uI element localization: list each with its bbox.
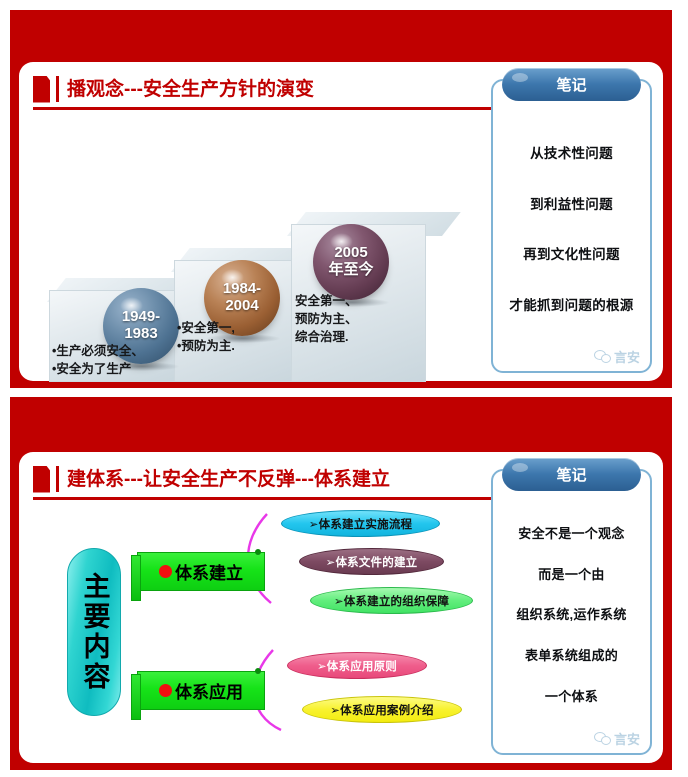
step-2-text: •安全第一, •预防为主. <box>177 319 235 355</box>
title-divider-bar <box>56 76 59 102</box>
step-3-text: 安全第一、 预防为主、 综合治理. <box>295 292 358 346</box>
slide-2-notes-body: 安全不是一个观念 而是一个由 组织系统,运作系统 表单系统组成的 一个体系 <box>499 501 644 727</box>
slide-1-card: 播观念---安全生产方针的演变 1949- 1983 19 <box>19 62 663 381</box>
notes-line: 安全不是一个观念 <box>518 523 624 542</box>
bullet-dot-icon <box>159 565 172 578</box>
page-title: 播观念---安全生产方针的演变 <box>65 80 314 99</box>
notes-line: 一个体系 <box>545 686 598 705</box>
step-3-text-line-3: 综合治理. <box>295 328 358 346</box>
notes-line: 才能抓到问题的根源 <box>509 294 633 314</box>
mindmap-branch-1-banner: 体系建立 <box>137 552 265 591</box>
bookmark-flag-icon <box>33 76 50 103</box>
bullet-dot-icon <box>159 684 172 697</box>
slide-2-card: 建体系---让安全生产不反弹---体系建立 主要内容 体系建立 <box>19 452 663 763</box>
notes-line: 再到文化性问题 <box>523 243 620 263</box>
notes-line: 而是一个由 <box>538 564 605 583</box>
step-2-sphere-line1: 1984- <box>223 281 261 298</box>
slide-1-notes-panel: 笔记 从技术性问题 到利益性问题 再到文化性问题 才能抓到问题的根源 言安 <box>491 79 652 373</box>
notes-header-badge: 笔记 <box>502 68 641 101</box>
wechat-icon <box>594 732 611 746</box>
slide-2-watermark: 言安 <box>594 729 640 748</box>
step-1-text-line-2: •安全为了生产 <box>52 360 144 378</box>
mindmap-leaf-2: ➢体系文件的建立 <box>299 548 444 575</box>
mindmap-root-node: 主要内容 <box>67 548 121 716</box>
bookmark-flag-icon <box>33 466 50 493</box>
presentation-page: 播观念---安全生产方针的演变 1949- 1983 19 <box>0 0 688 777</box>
step-3-sphere-line1: 2005 <box>334 245 367 262</box>
mindmap-leaf-4: ➢体系应用原则 <box>287 652 427 679</box>
notes-line: 组织系统,运作系统 <box>516 604 626 623</box>
notes-line: 表单系统组成的 <box>525 645 618 664</box>
notes-header-badge: 笔记 <box>502 458 641 491</box>
step-2-text-line-2: •预防为主. <box>177 337 235 355</box>
slide-1-watermark: 言安 <box>594 347 640 366</box>
page-title: 建体系---让安全生产不反弹---体系建立 <box>65 470 390 489</box>
watermark-text: 言安 <box>614 729 640 748</box>
step-3-text-line-2: 预防为主、 <box>295 310 358 328</box>
mindmap-leaf-1: ➢体系建立实施流程 <box>281 510 440 537</box>
slide-2: 建体系---让安全生产不反弹---体系建立 主要内容 体系建立 <box>10 397 672 770</box>
step-1-text: •生产必须安全、 •安全为了生产 <box>52 342 144 378</box>
mindmap-branch-1-label: 体系建立 <box>175 559 243 584</box>
notes-line: 到利益性问题 <box>530 193 613 213</box>
title-divider-bar <box>56 466 59 492</box>
wechat-icon <box>594 350 611 364</box>
step-3-text-line-1: 安全第一、 <box>295 292 358 310</box>
step-1-text-line-1: •生产必须安全、 <box>52 342 144 360</box>
mindmap-leaf-3: ➢体系建立的组织保障 <box>310 587 473 614</box>
step-1-sphere-line2: 1983 <box>124 326 157 343</box>
mindmap-branch-2-label: 体系应用 <box>175 678 243 703</box>
watermark-text: 言安 <box>614 347 640 366</box>
step-2-sphere-line2: 2004 <box>225 298 258 315</box>
staircase-diagram: 1949- 1983 1984- 2004 2005 年至今 •生产必须安全、 … <box>19 112 489 387</box>
notes-line: 从技术性问题 <box>530 142 613 162</box>
slide-2-notes-panel: 笔记 安全不是一个观念 而是一个由 组织系统,运作系统 表单系统组成的 一个体系… <box>491 469 652 755</box>
mindmap-leaf-5: ➢体系应用案例介绍 <box>302 696 462 723</box>
step-2-text-line-1: •安全第一, <box>177 319 235 337</box>
mindmap-diagram: 主要内容 体系建立 体系应用 ➢体系建立实施流程 ➢体系文件的建立 ➢体系建立的… <box>19 500 489 765</box>
mindmap-branch-2-banner: 体系应用 <box>137 671 265 710</box>
mindmap-root-label: 主要内容 <box>81 572 108 692</box>
step-3-sphere: 2005 年至今 <box>313 224 389 300</box>
step-1-sphere-line1: 1949- <box>122 309 160 326</box>
slide-1: 播观念---安全生产方针的演变 1949- 1983 19 <box>10 10 672 388</box>
step-3-sphere-line2: 年至今 <box>328 262 373 279</box>
slide-1-notes-body: 从技术性问题 到利益性问题 再到文化性问题 才能抓到问题的根源 <box>499 111 644 345</box>
